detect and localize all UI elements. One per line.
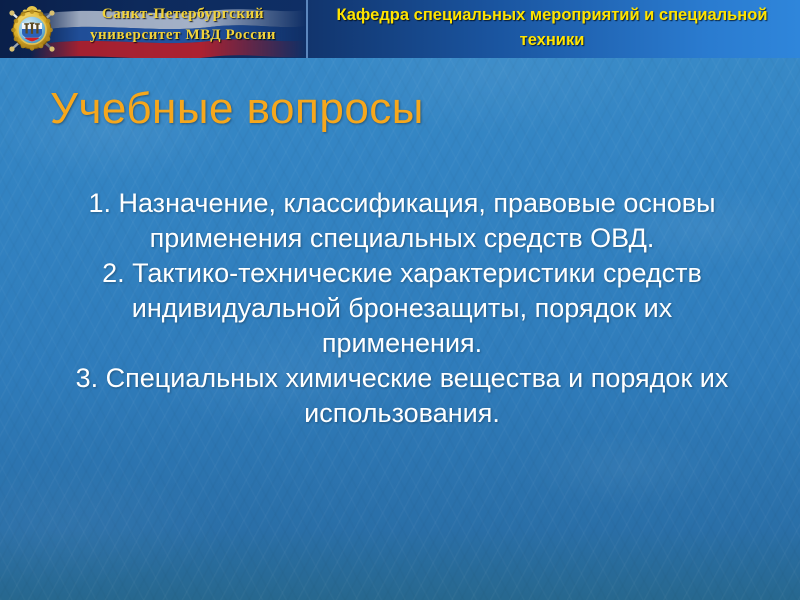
study-questions-list: 1. Назначение, классификация, правовые о… [52,186,752,431]
list-item: 2. Тактико-технические характеристики ср… [52,256,752,361]
university-banner: Санкт-Петербургский университет МВД Росс… [0,0,308,58]
university-banner-text: Санкт-Петербургский университет МВД Росс… [64,4,302,46]
slide-header: Санкт-Петербургский университет МВД Росс… [0,0,800,58]
list-item: 1. Назначение, классификация, правовые о… [52,186,752,256]
mvd-emblem-icon [5,4,59,54]
presentation-slide: Санкт-Петербургский университет МВД Росс… [0,0,800,600]
department-title: Кафедра специальных мероприятий и специа… [312,3,792,53]
university-name-line1: Санкт-Петербургский [64,4,302,25]
page-title: Учебные вопросы [50,84,750,134]
university-name-line2: университет МВД России [64,25,302,46]
list-item: 3. Специальных химические вещества и пор… [52,361,752,431]
